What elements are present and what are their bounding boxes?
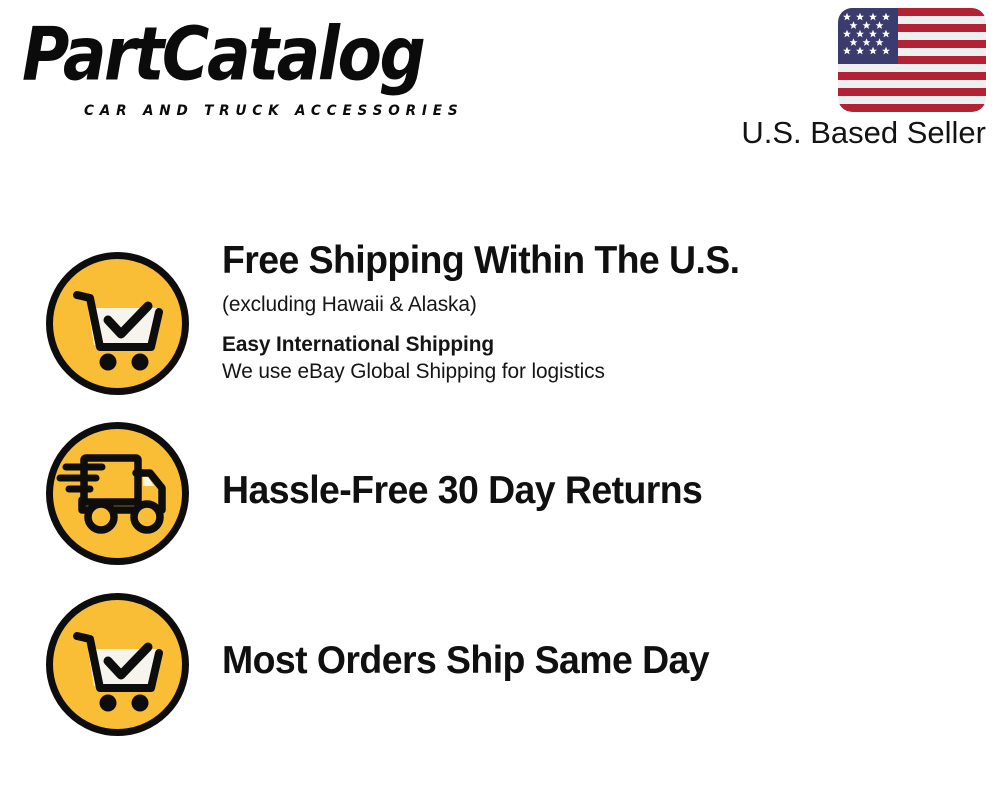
feature-detail-ebay-global: We use eBay Global Shipping for logistic… (222, 358, 940, 386)
us-based-seller-block: U.S. Based Seller (726, 8, 986, 150)
us-based-seller-label: U.S. Based Seller (726, 116, 986, 150)
feature-title-shipping: Free Shipping Within The U.S. (222, 240, 932, 282)
feature-text-sameday: Most Orders Ship Same Day (222, 640, 962, 682)
shopping-cart-check-icon (44, 250, 191, 397)
delivery-truck-icon (44, 420, 191, 567)
feature-title-returns: Hassle-Free 30 Day Returns (222, 470, 932, 512)
feature-text-returns: Hassle-Free 30 Day Returns (222, 470, 962, 512)
us-flag-icon (838, 8, 986, 112)
shopping-cart-check-icon (44, 591, 191, 738)
brand-wordmark: PartCatalog (22, 18, 423, 92)
promo-banner: PartCatalog CAR AND TRUCK ACCESSORIES (0, 0, 1000, 800)
feature-title-sameday: Most Orders Ship Same Day (222, 640, 932, 682)
brand-tagline: CAR AND TRUCK ACCESSORIES (84, 104, 463, 118)
brand-logo: PartCatalog CAR AND TRUCK ACCESSORIES (22, 18, 492, 118)
feature-text-shipping: Free Shipping Within The U.S. (excluding… (222, 240, 962, 386)
feature-subtitle-international: Easy International Shipping (222, 331, 940, 359)
feature-note-shipping: (excluding Hawaii & Alaska) (222, 291, 940, 319)
